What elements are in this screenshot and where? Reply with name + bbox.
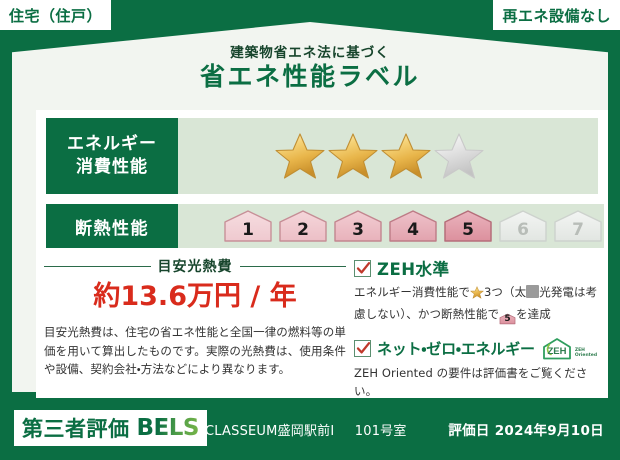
zeh-logo-subtext: ZEH Oriented (575, 348, 597, 360)
checkbox-checked-icon-net-zero[interactable] (354, 340, 371, 357)
redaction-block (526, 285, 539, 298)
evaluation-date-value: 2024年9月10日 (495, 423, 604, 439)
star-icon-filled-2 (327, 131, 379, 181)
energy-performance-row: エネルギー 消費性能 (46, 118, 598, 194)
zeh-desc-part4: を達成 (516, 307, 551, 321)
utility-cost-section: 目安光熱費 約13.6万円 / 年 目安光熱費は、住宅の省エネ性能と全国一律の燃… (44, 256, 346, 379)
insulation-chip-inline-5-label: 5 (499, 312, 516, 327)
insulation-chip-inline-5: 5 (499, 312, 516, 326)
insulation-chip-1-label: 1 (242, 220, 254, 240)
zeh-desc-part1: エネルギー消費性能で (354, 285, 470, 299)
energy-performance-label: エネルギー 消費性能 (46, 118, 178, 194)
star-icon-empty-4 (433, 131, 485, 181)
insulation-chip-7: 7 (552, 209, 604, 243)
evaluation-date: 評価日 2024年9月10日 (448, 419, 604, 439)
energy-performance-label-line2: 消費性能 (76, 156, 148, 179)
building-type-text: 住宅（住戸） (9, 5, 102, 26)
zeh-logo-icon: ZEH ZEH Oriented (541, 337, 597, 361)
zeh-standard-header: ZEH水準 (354, 256, 604, 280)
checkbox-checked-icon-zeh-standard[interactable] (354, 260, 371, 277)
building-type-tag: 住宅（住戸） (0, 0, 111, 30)
net-zero-energy-header: ネット・ゼロ・エネルギー ZEH ZEH Oriented (354, 337, 604, 361)
insulation-level-chips: 1 2 (178, 204, 604, 248)
header-subtitle: 建築物省エネ法に基づく (12, 46, 608, 61)
house-shape: 建築物省エネ法に基づく 省エネ性能ラベル エネルギー 消費性能 (12, 22, 608, 392)
insulation-performance-row: 断熱性能 1 (46, 204, 598, 248)
zeh-section: ZEH水準 エネルギー消費性能で3つ（太光発電は考慮しない）、かつ断熱性能で5を… (354, 256, 604, 401)
insulation-chip-7-label: 7 (572, 220, 584, 240)
star-icon-inline (470, 286, 484, 305)
renewable-energy-text: 再エネ設備なし (502, 5, 611, 26)
energy-performance-label-line1: エネルギー (67, 133, 157, 156)
energy-performance-stars (178, 118, 598, 194)
svg-text:ZEH: ZEH (547, 346, 566, 357)
insulation-chip-3: 3 (332, 209, 384, 243)
room-number: 101号室 (355, 424, 407, 439)
header-block: 建築物省エネ法に基づく 省エネ性能ラベル (12, 46, 608, 92)
energy-performance-label: 住宅（住戸） 再エネ設備なし 建築物省エネ法に基づく 省エネ性能ラベル エネルギ… (0, 0, 620, 460)
zeh-standard-title: ZEH水準 (377, 256, 450, 280)
property-name: CLASSEUM盛岡駅前Ⅰ (205, 424, 334, 439)
insulation-chip-4: 4 (387, 209, 439, 243)
zeh-logo-subtext-line2: Oriented (575, 353, 597, 358)
property-info: CLASSEUM盛岡駅前Ⅰ 101号室 (205, 420, 407, 439)
zeh-desc-part2: 3つ（太 (484, 285, 526, 299)
insulation-performance-label-text: 断熱性能 (75, 214, 149, 239)
rule-right (240, 266, 347, 267)
bels-logo: 第三者評価 BELS (14, 410, 207, 446)
utility-cost-heading-text: 目安光熱費 (158, 256, 233, 276)
insulation-chip-1: 1 (222, 209, 274, 243)
utility-cost-amount: 約13.6万円 / 年 (44, 283, 346, 310)
insulation-chip-6-label: 6 (517, 220, 529, 240)
utility-cost-heading: 目安光熱費 (44, 256, 346, 276)
net-zero-energy-description: ZEH Oriented の要件は評価書をご覧ください。 (354, 364, 604, 401)
page-title: 省エネ性能ラベル (12, 63, 608, 92)
utility-cost-note: 目安光熱費は、住宅の省エネ性能と全国一律の燃料等の単価を用いて算出したものです。… (44, 323, 346, 379)
net-zero-energy-title: ネット・ゼロ・エネルギー (377, 338, 535, 359)
star-icon-filled-1 (274, 131, 326, 181)
insulation-performance-label: 断熱性能 (46, 204, 178, 248)
footer-bar: 第三者評価 BELS CLASSEUM盛岡駅前Ⅰ 101号室 評価日 2024年… (0, 398, 620, 460)
insulation-chip-6: 6 (497, 209, 549, 243)
star-icon-filled-3 (380, 131, 432, 181)
bels-logo-jp: 第三者評価 (22, 413, 130, 443)
insulation-chip-4-label: 4 (407, 220, 419, 240)
insulation-chip-5-label: 5 (462, 220, 474, 240)
rule-left (44, 266, 151, 267)
zeh-standard-description: エネルギー消費性能で3つ（太光発電は考慮しない）、かつ断熱性能で5を達成 (354, 283, 604, 326)
insulation-chip-5: 5 (442, 209, 494, 243)
evaluation-date-label: 評価日 (448, 423, 489, 439)
insulation-chip-2-label: 2 (297, 220, 309, 240)
insulation-chip-3-label: 3 (352, 220, 364, 240)
content-card: エネルギー 消費性能 (36, 110, 608, 410)
renewable-energy-tag: 再エネ設備なし (493, 0, 620, 30)
bels-logo-en: BELS (137, 415, 199, 441)
insulation-chip-2: 2 (277, 209, 329, 243)
